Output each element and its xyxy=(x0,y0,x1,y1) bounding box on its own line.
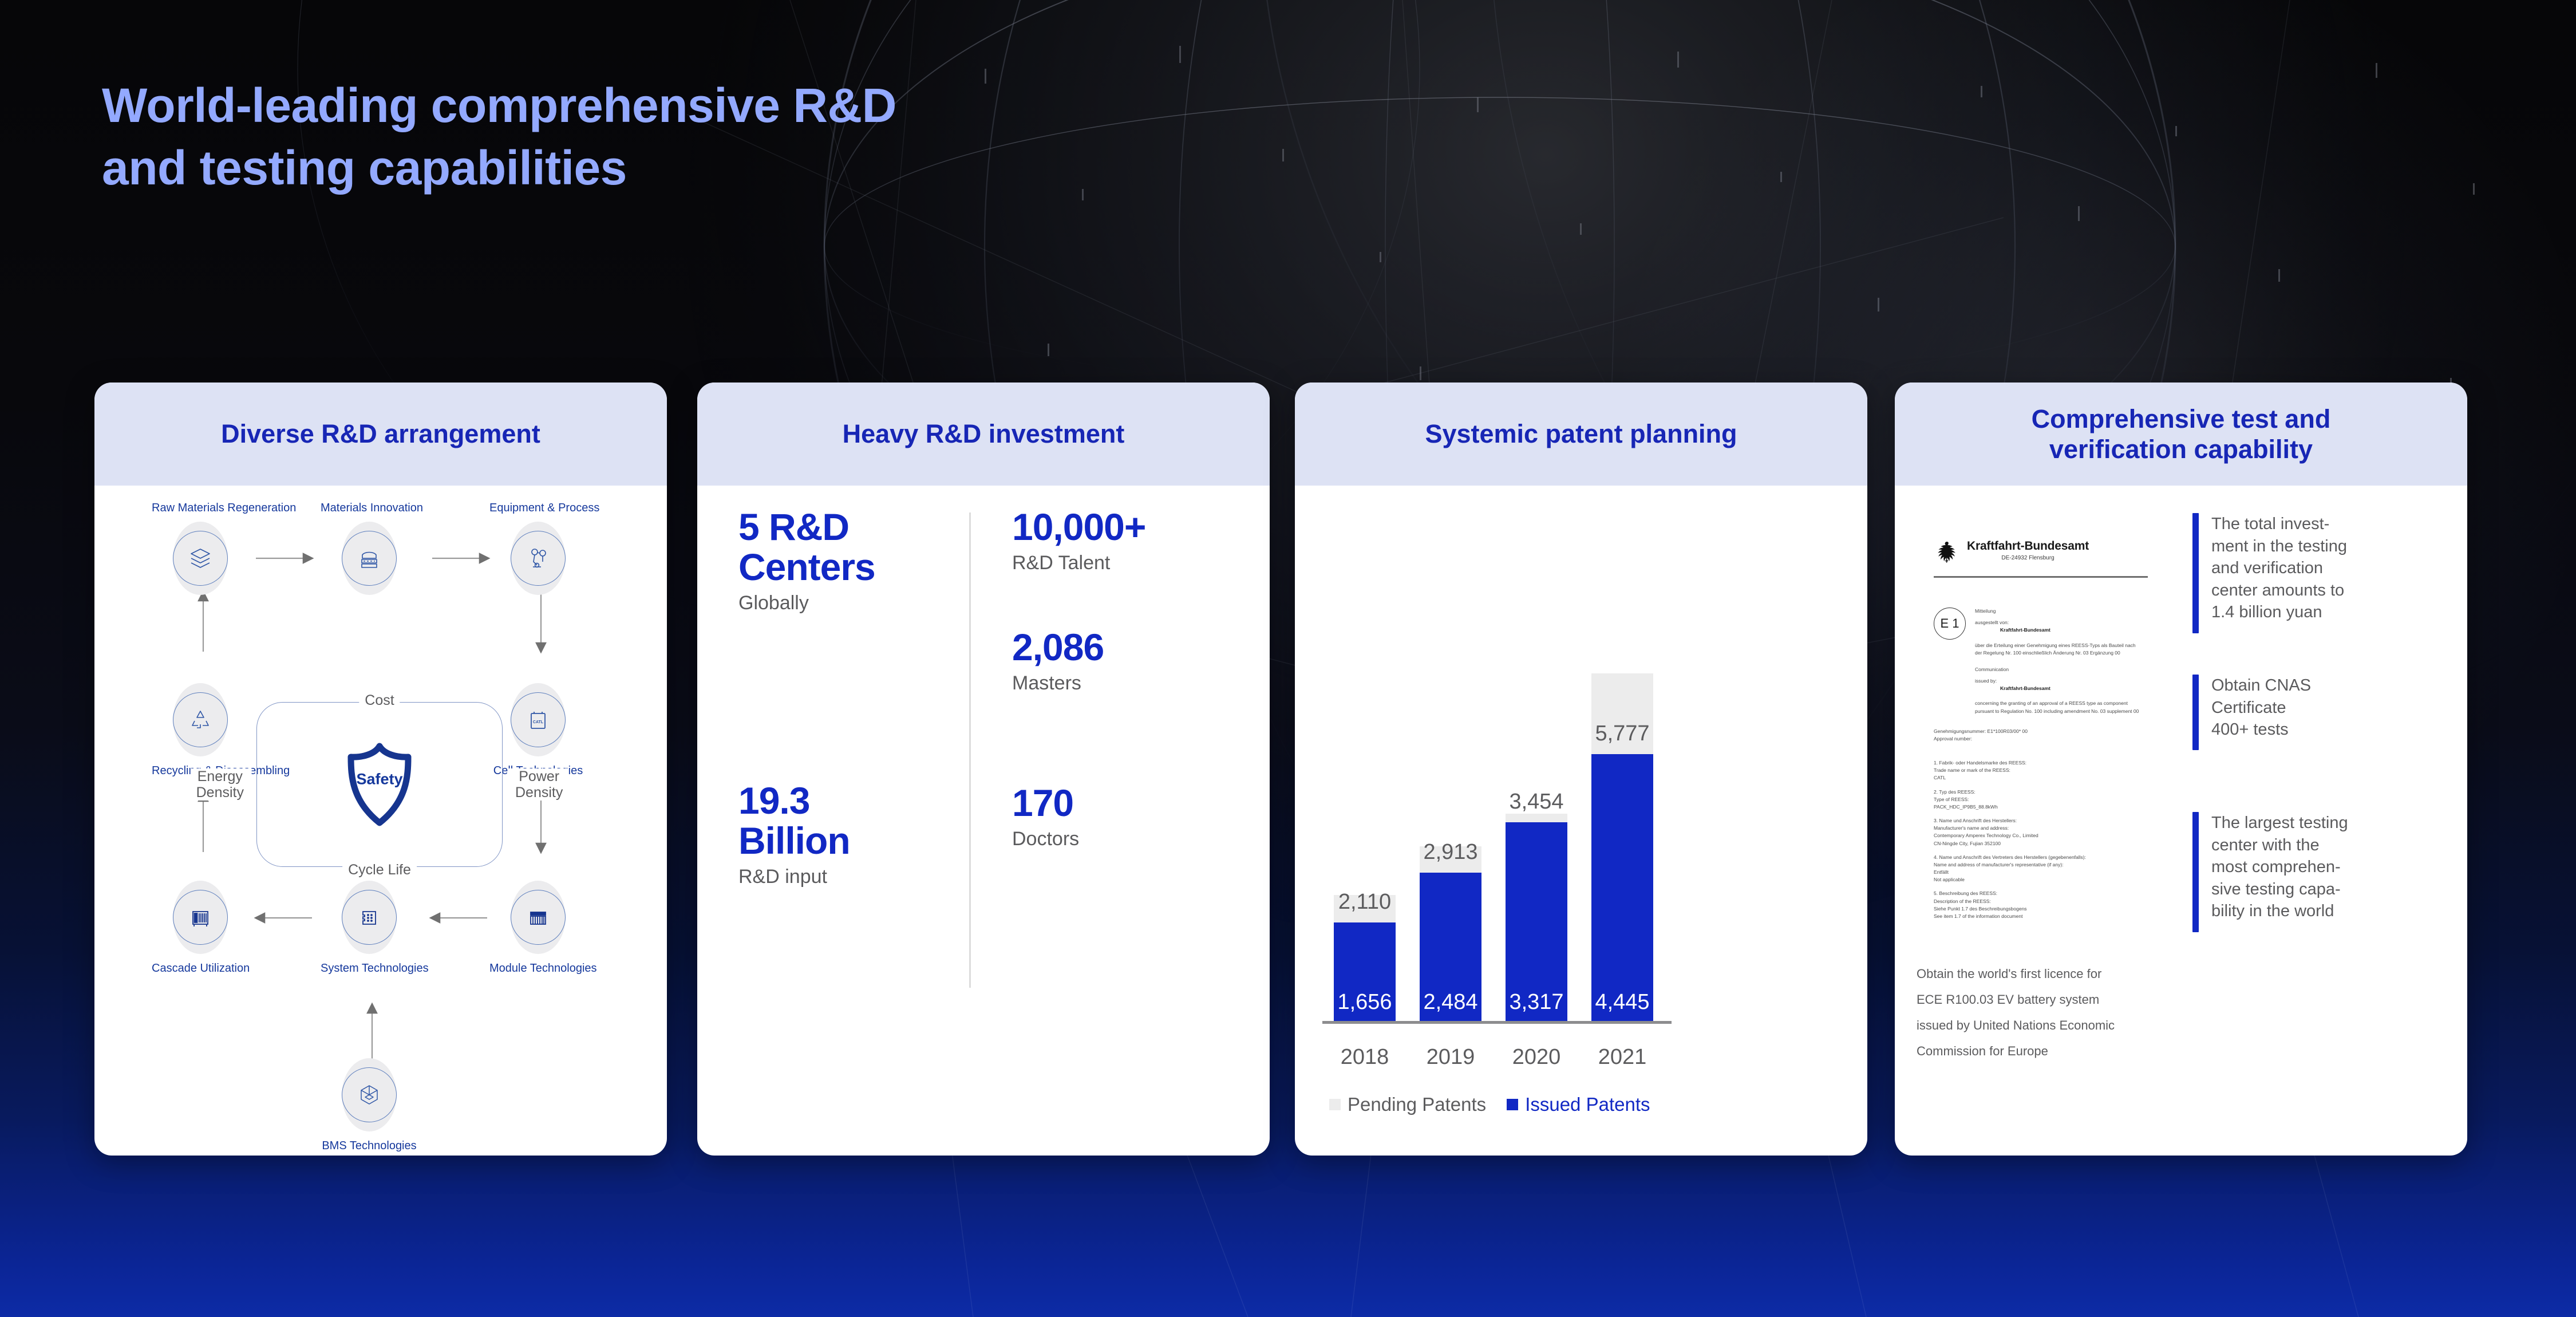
node-ring xyxy=(342,1067,397,1122)
diagram-node-label: Cascade Utilization xyxy=(152,962,249,975)
diagram-node-system-technologies[interactable]: System Technologies xyxy=(321,881,418,975)
stat-value: 19.3 Billion xyxy=(738,781,850,861)
legend-swatch-issued xyxy=(1507,1099,1518,1110)
chip-icon xyxy=(354,902,384,932)
node-blob xyxy=(342,522,397,595)
card-title-systemic-patent: Systemic patent planning xyxy=(1295,383,1867,486)
diagram-node-label: System Technologies xyxy=(321,962,418,975)
rack-icon xyxy=(185,902,215,932)
stat-caption: R&D Talent xyxy=(1012,552,1145,574)
card-systemic-patent-planning: Systemic patent planning 2,110 1,656 2,9… xyxy=(1295,383,1867,1156)
certificate-approval-en: Approval number: xyxy=(1934,735,2149,743)
certificate-document-image[interactable]: Kraftfahrt-Bundesamt DE-24932 Flensburg … xyxy=(1917,506,2163,947)
bar-segment-pending: 2,913 xyxy=(1420,846,1481,872)
certificate-body: E 1 Mitteilung ausgestellt von: Kraftfah… xyxy=(1917,578,2163,715)
node-ring xyxy=(173,692,228,747)
node-ring xyxy=(342,890,397,945)
diagram-node-label: Raw Materials Regeneration xyxy=(152,502,249,515)
diagram-node-cell-technologies[interactable]: CATL Cell Technologies xyxy=(489,683,587,778)
diagram-node-label: BMS Technologies xyxy=(321,1139,418,1153)
diagram-node-bms-technologies[interactable]: BMS Technologies xyxy=(321,1058,418,1153)
bullet-total-investment: The total invest- ment in the testing an… xyxy=(2192,513,2347,633)
legend-item-pending-patents[interactable]: Pending Patents xyxy=(1329,1094,1486,1115)
rd-arrangement-diagram: Raw Materials Regeneration Mat xyxy=(94,486,667,1156)
x-axis-tick-2018: 2018 xyxy=(1334,1045,1396,1070)
certificate-line-de-0: Mitteilung xyxy=(1975,608,2149,615)
bar-segment-pending: 3,454 xyxy=(1506,814,1567,822)
module-icon xyxy=(523,902,553,932)
node-blob xyxy=(342,1058,397,1131)
stat-caption: Masters xyxy=(1012,672,1104,695)
bullet-cnas-certificate: Obtain CNAS Certificate 400+ tests xyxy=(2192,675,2311,750)
page-title: World-leading comprehensive R&D and test… xyxy=(102,74,896,199)
certificate-line-en-3: concerning the granting of an approval o… xyxy=(1975,700,2149,707)
recycle-icon xyxy=(185,705,215,735)
node-blob xyxy=(342,881,397,954)
certificate-items: 1. Fabrik- oder Handelsmarke des REESS: … xyxy=(1917,743,2163,920)
battery-cell-icon: CATL xyxy=(523,705,553,735)
node-blob xyxy=(511,522,566,595)
bullet-text: The total invest- ment in the testing an… xyxy=(2211,513,2347,633)
bar-issued-label: 2,484 xyxy=(1423,990,1477,1015)
node-ring xyxy=(511,531,566,586)
stat-value: 10,000+ xyxy=(1012,507,1145,547)
safety-label-energy-density: Energy Density xyxy=(191,768,252,801)
certificate-line-en-2: Kraftfahrt-Bundesamt xyxy=(2000,685,2050,691)
legend-label: Pending Patents xyxy=(1348,1094,1486,1115)
safety-label-cycle-life: Cycle Life xyxy=(342,862,417,878)
diagram-node-label: Materials Innovation xyxy=(321,502,418,515)
x-axis-tick-2019: 2019 xyxy=(1420,1045,1481,1070)
node-ring xyxy=(511,890,566,945)
diagram-node-raw-materials-regeneration[interactable]: Raw Materials Regeneration xyxy=(152,502,249,595)
bar-group-2018[interactable]: 2,110 1,656 xyxy=(1334,895,1396,1023)
diagram-node-label: Equipment & Process xyxy=(489,502,587,515)
certificate-caption: Obtain the world's first licence for ECE… xyxy=(1917,961,2163,1064)
card-title-comprehensive-test: Comprehensive test and verification capa… xyxy=(1895,383,2467,486)
diagram-node-label: Module Technologies xyxy=(489,962,587,975)
svg-text:CATL: CATL xyxy=(533,720,544,724)
shield-label: Safety xyxy=(356,771,402,788)
diagram-node-recycling-disassembling[interactable]: Recycling & Disassembling xyxy=(152,683,249,778)
certificate-item-3: 3. Name und Anschrift des Herstellers: M… xyxy=(1934,817,2149,847)
certificate-line-en-0: Communication xyxy=(1975,666,2149,673)
safety-center-group: Cost Cycle Life Energy Density Power Den… xyxy=(256,702,503,867)
legend-item-issued-patents[interactable]: Issued Patents xyxy=(1507,1094,1650,1115)
certificate-org: Kraftfahrt-Bundesamt xyxy=(1967,539,2089,553)
diagram-node-materials-innovation[interactable]: Materials Innovation xyxy=(321,502,418,595)
bullet-text: Obtain CNAS Certificate 400+ tests xyxy=(2211,675,2311,750)
bar-group-2020[interactable]: 3,454 3,317 xyxy=(1506,814,1567,1023)
safety-label-power-density: Power Density xyxy=(507,768,568,801)
x-axis-tick-2021: 2021 xyxy=(1591,1045,1653,1070)
bar-total-label: 5,777 xyxy=(1595,721,1649,746)
stat-doctors: 170 Doctors xyxy=(1012,783,1079,850)
node-blob xyxy=(173,881,228,954)
safety-label-cost: Cost xyxy=(359,692,400,708)
certificate-line-de-4: der Regelung Nr. 100 einschließlich Ände… xyxy=(1975,649,2149,657)
stat-caption: Doctors xyxy=(1012,828,1079,850)
bar-group-2021[interactable]: 5,777 4,445 xyxy=(1591,673,1653,1023)
node-blob xyxy=(173,683,228,756)
diagram-node-module-technologies[interactable]: Module Technologies xyxy=(489,881,587,975)
cube-icon xyxy=(354,1080,384,1110)
certificate-line-en-1: issued by: xyxy=(1975,677,2149,685)
legend-swatch-pending xyxy=(1329,1099,1341,1110)
node-ring xyxy=(173,890,228,945)
node-blob xyxy=(173,522,228,595)
node-blob xyxy=(511,881,566,954)
bar-segment-issued: 4,445 xyxy=(1591,754,1653,1023)
card-title-heavy-rd: Heavy R&D investment xyxy=(697,383,1270,486)
certificate-org-sub: DE-24932 Flensburg xyxy=(1967,555,2089,561)
stats-divider xyxy=(969,512,971,988)
bar-segment-issued: 2,484 xyxy=(1420,873,1481,1023)
bar-total-label: 2,913 xyxy=(1423,840,1477,865)
certificate-item-5: 5. Beschreibung des REESS: Description o… xyxy=(1934,890,2149,920)
bar-total-label: 2,110 xyxy=(1338,890,1391,914)
card-heavy-rd-investment: Heavy R&D investment 5 R&D Centers Globa… xyxy=(697,383,1270,1156)
bar-issued-label: 4,445 xyxy=(1595,990,1649,1015)
robot-arm-icon xyxy=(523,543,553,573)
bar-segment-issued: 1,656 xyxy=(1334,922,1396,1023)
certificate-header: Kraftfahrt-Bundesamt DE-24932 Flensburg xyxy=(1917,506,2163,567)
bullet-accent-bar xyxy=(2192,513,2199,633)
bar-total-label: 3,454 xyxy=(1509,790,1563,814)
stat-value: 170 xyxy=(1012,783,1079,823)
certificate-item-2: 2. Typ des REESS: Type of REESS: PACK_HD… xyxy=(1934,788,2149,811)
diagram-node-cascade-utilization[interactable]: Cascade Utilization xyxy=(152,881,249,975)
stat-rd-input: 19.3 Billion R&D input xyxy=(738,781,850,888)
node-ring xyxy=(173,531,228,586)
bullet-accent-bar xyxy=(2192,812,2199,932)
bar-issued-label: 3,317 xyxy=(1509,990,1563,1015)
node-blob: CATL xyxy=(511,683,566,756)
bar-issued-label: 1,656 xyxy=(1337,990,1392,1015)
card-title-diverse-rd: Diverse R&D arrangement xyxy=(94,383,667,486)
bullet-text: The largest testing center with the most… xyxy=(2211,812,2348,932)
material-stack-icon xyxy=(354,543,384,573)
x-axis-tick-2020: 2020 xyxy=(1506,1045,1567,1070)
layers-icon xyxy=(185,543,215,573)
chart-baseline xyxy=(1322,1021,1672,1024)
certificate-line-de-1: ausgestellt von: xyxy=(1975,619,2149,626)
stat-rd-talent: 10,000+ R&D Talent xyxy=(1012,507,1145,574)
stat-value: 5 R&D Centers xyxy=(738,507,875,587)
bar-segment-issued: 3,317 xyxy=(1506,822,1567,1023)
stat-caption: Globally xyxy=(738,592,875,614)
patent-stacked-bar-chart: 2,110 1,656 2,913 2,484 3,454 xyxy=(1295,486,1867,1156)
e1-approval-mark: E 1 xyxy=(1934,608,1966,640)
certificate-approval: Genehmigungsnummer: E1*100R03/00* 00 App… xyxy=(1917,715,2163,743)
chart-legend: Pending Patents Issued Patents xyxy=(1329,1094,1650,1115)
stat-masters: 2,086 Masters xyxy=(1012,628,1104,695)
node-ring xyxy=(342,531,397,586)
certificate-line-en-4: pursuant to Regulation No. 100 including… xyxy=(1975,708,2149,715)
certificate-line-de-3: über die Erteilung einer Genehmigung ein… xyxy=(1975,642,2149,649)
stat-caption: R&D input xyxy=(738,866,850,888)
bar-segment-pending: 2,110 xyxy=(1334,895,1396,922)
card-comprehensive-test-verification: Comprehensive test and verification capa… xyxy=(1895,383,2467,1156)
bar-segment-pending: 5,777 xyxy=(1591,673,1653,754)
stat-rd-centers: 5 R&D Centers Globally xyxy=(738,507,875,614)
bar-group-2019[interactable]: 2,913 2,484 xyxy=(1420,846,1481,1023)
certificate-line-de-2: Kraftfahrt-Bundesamt xyxy=(2000,627,2050,633)
certificate-approval-de: Genehmigungsnummer: E1*100R03/00* 00 xyxy=(1934,728,2149,735)
certificate-item-1: 1. Fabrik- oder Handelsmarke des REESS: … xyxy=(1934,759,2149,782)
bullet-largest-testing-center: The largest testing center with the most… xyxy=(2192,812,2348,932)
stat-value: 2,086 xyxy=(1012,628,1104,668)
certificate-item-4: 4. Name und Anschrift des Vertreters des… xyxy=(1934,854,2149,884)
diagram-node-equipment-process[interactable]: Equipment & Process xyxy=(489,502,587,595)
german-eagle-icon xyxy=(1935,539,1959,567)
legend-label: Issued Patents xyxy=(1525,1094,1650,1115)
node-ring: CATL xyxy=(511,692,566,747)
card-diverse-rd-arrangement: Diverse R&D arrangement xyxy=(94,383,667,1156)
bullet-accent-bar xyxy=(2192,675,2199,750)
